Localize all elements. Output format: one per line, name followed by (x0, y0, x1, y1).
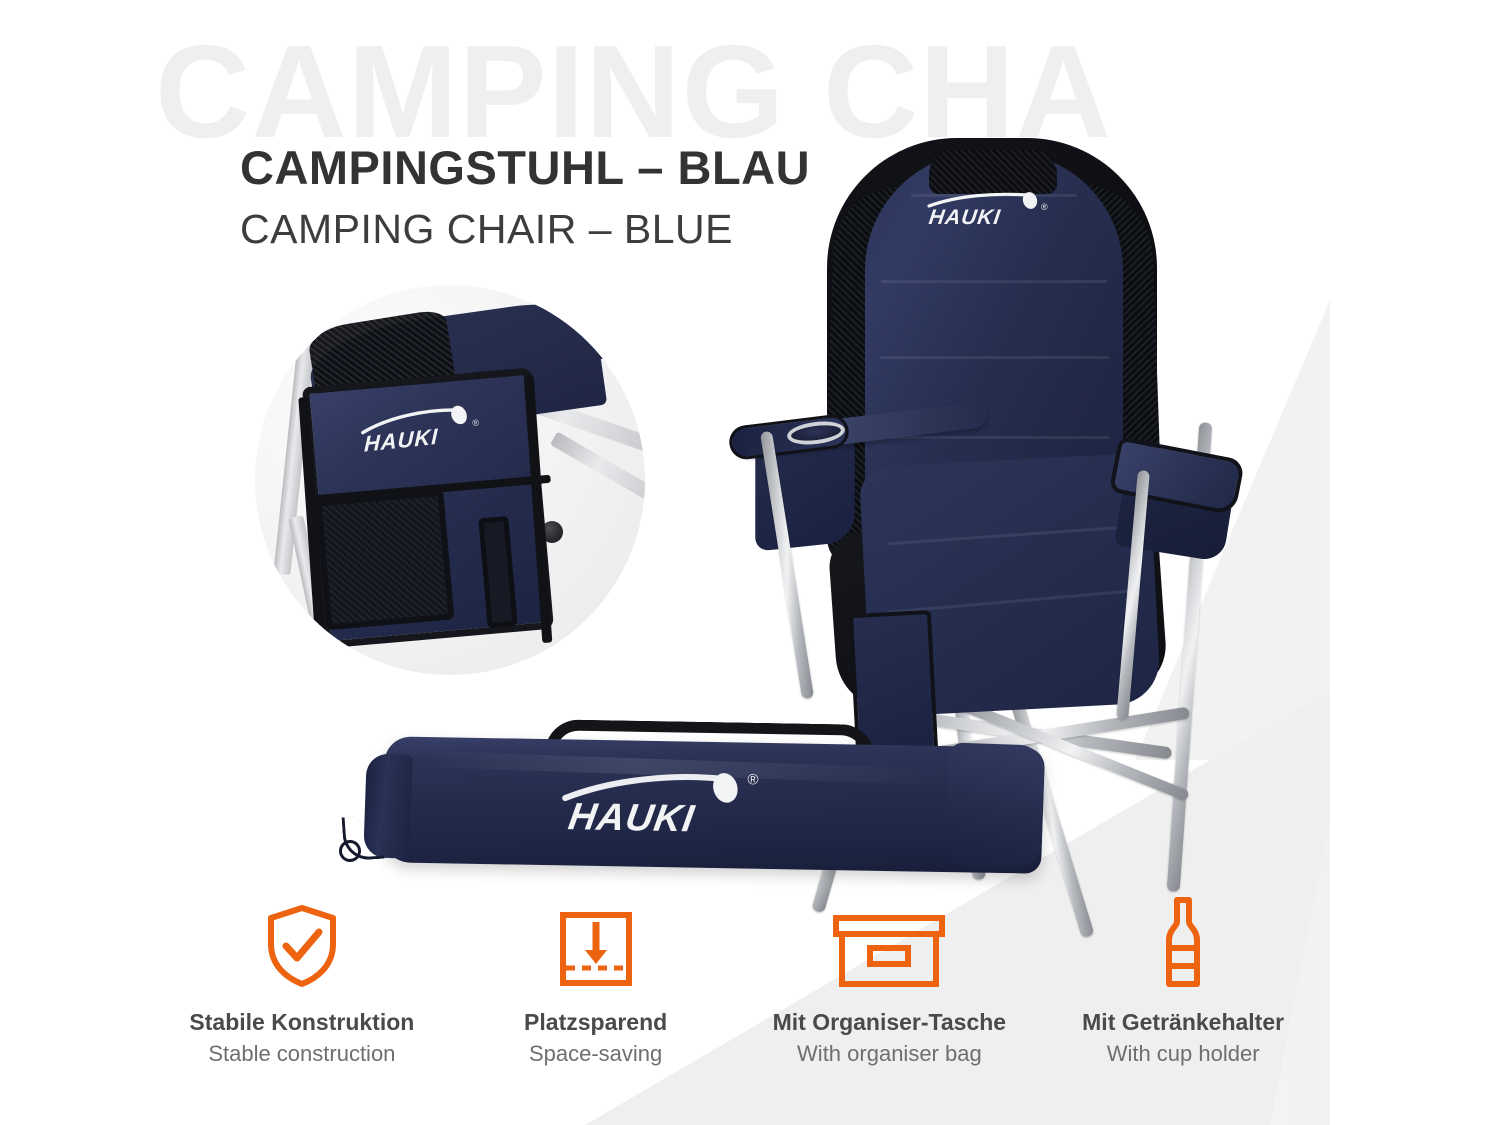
bag-end-cap (945, 742, 1045, 867)
feature-label-de: Mit Getränkehalter (1082, 1008, 1284, 1037)
hauki-logo: HAUKI ® (927, 192, 1067, 236)
registered-mark: ® (747, 771, 758, 788)
hauki-wordmark: HAUKI (927, 206, 1002, 230)
page-subtitle: CAMPING CHAIR – BLUE (240, 206, 733, 253)
feature-label-de: Stabile Konstruktion (189, 1008, 414, 1037)
headrest-mesh (929, 150, 1057, 194)
content-panel: CAMPING CHA CAMPINGSTUHL – BLAU CAMPING … (155, 0, 1330, 1125)
organiser-bag-graphic: HAUKI ® (293, 305, 623, 675)
shield-check-icon (265, 900, 339, 988)
registered-mark: ® (472, 417, 480, 428)
compress-down-icon (558, 900, 634, 988)
feature-label-de: Mit Organiser-Tasche (773, 1008, 1006, 1037)
detail-inset-photo: HAUKI ® (255, 285, 645, 675)
feature-item-organiser-bag: Mit Organiser-Tasche With organiser bag (743, 900, 1037, 1100)
registered-mark: ® (1041, 202, 1048, 212)
feature-item-stable-construction: Stabile Konstruktion Stable construction (155, 900, 449, 1100)
feature-item-cup-holder: Mit Getränkehalter With cup holder (1036, 900, 1330, 1100)
bottle-icon (1158, 900, 1208, 988)
feature-label-en: With cup holder (1107, 1040, 1260, 1069)
feature-label-de: Platzsparend (524, 1008, 667, 1037)
feature-row: Stabile Konstruktion Stable construction… (155, 900, 1330, 1100)
hauki-wordmark: HAUKI (565, 796, 697, 841)
feature-label-en: With organiser bag (797, 1040, 982, 1069)
feature-label-en: Space-saving (529, 1040, 662, 1069)
carry-bag-photo: HAUKI ® (335, 720, 1075, 895)
storage-box-icon (830, 900, 948, 988)
feature-label-en: Stable construction (208, 1040, 395, 1069)
hauki-logo: HAUKI ® (560, 770, 791, 846)
feature-item-space-saving: Platzsparend Space-saving (449, 900, 743, 1100)
product-banner: CAMPING CHA CAMPINGSTUHL – BLAU CAMPING … (0, 0, 1500, 1125)
